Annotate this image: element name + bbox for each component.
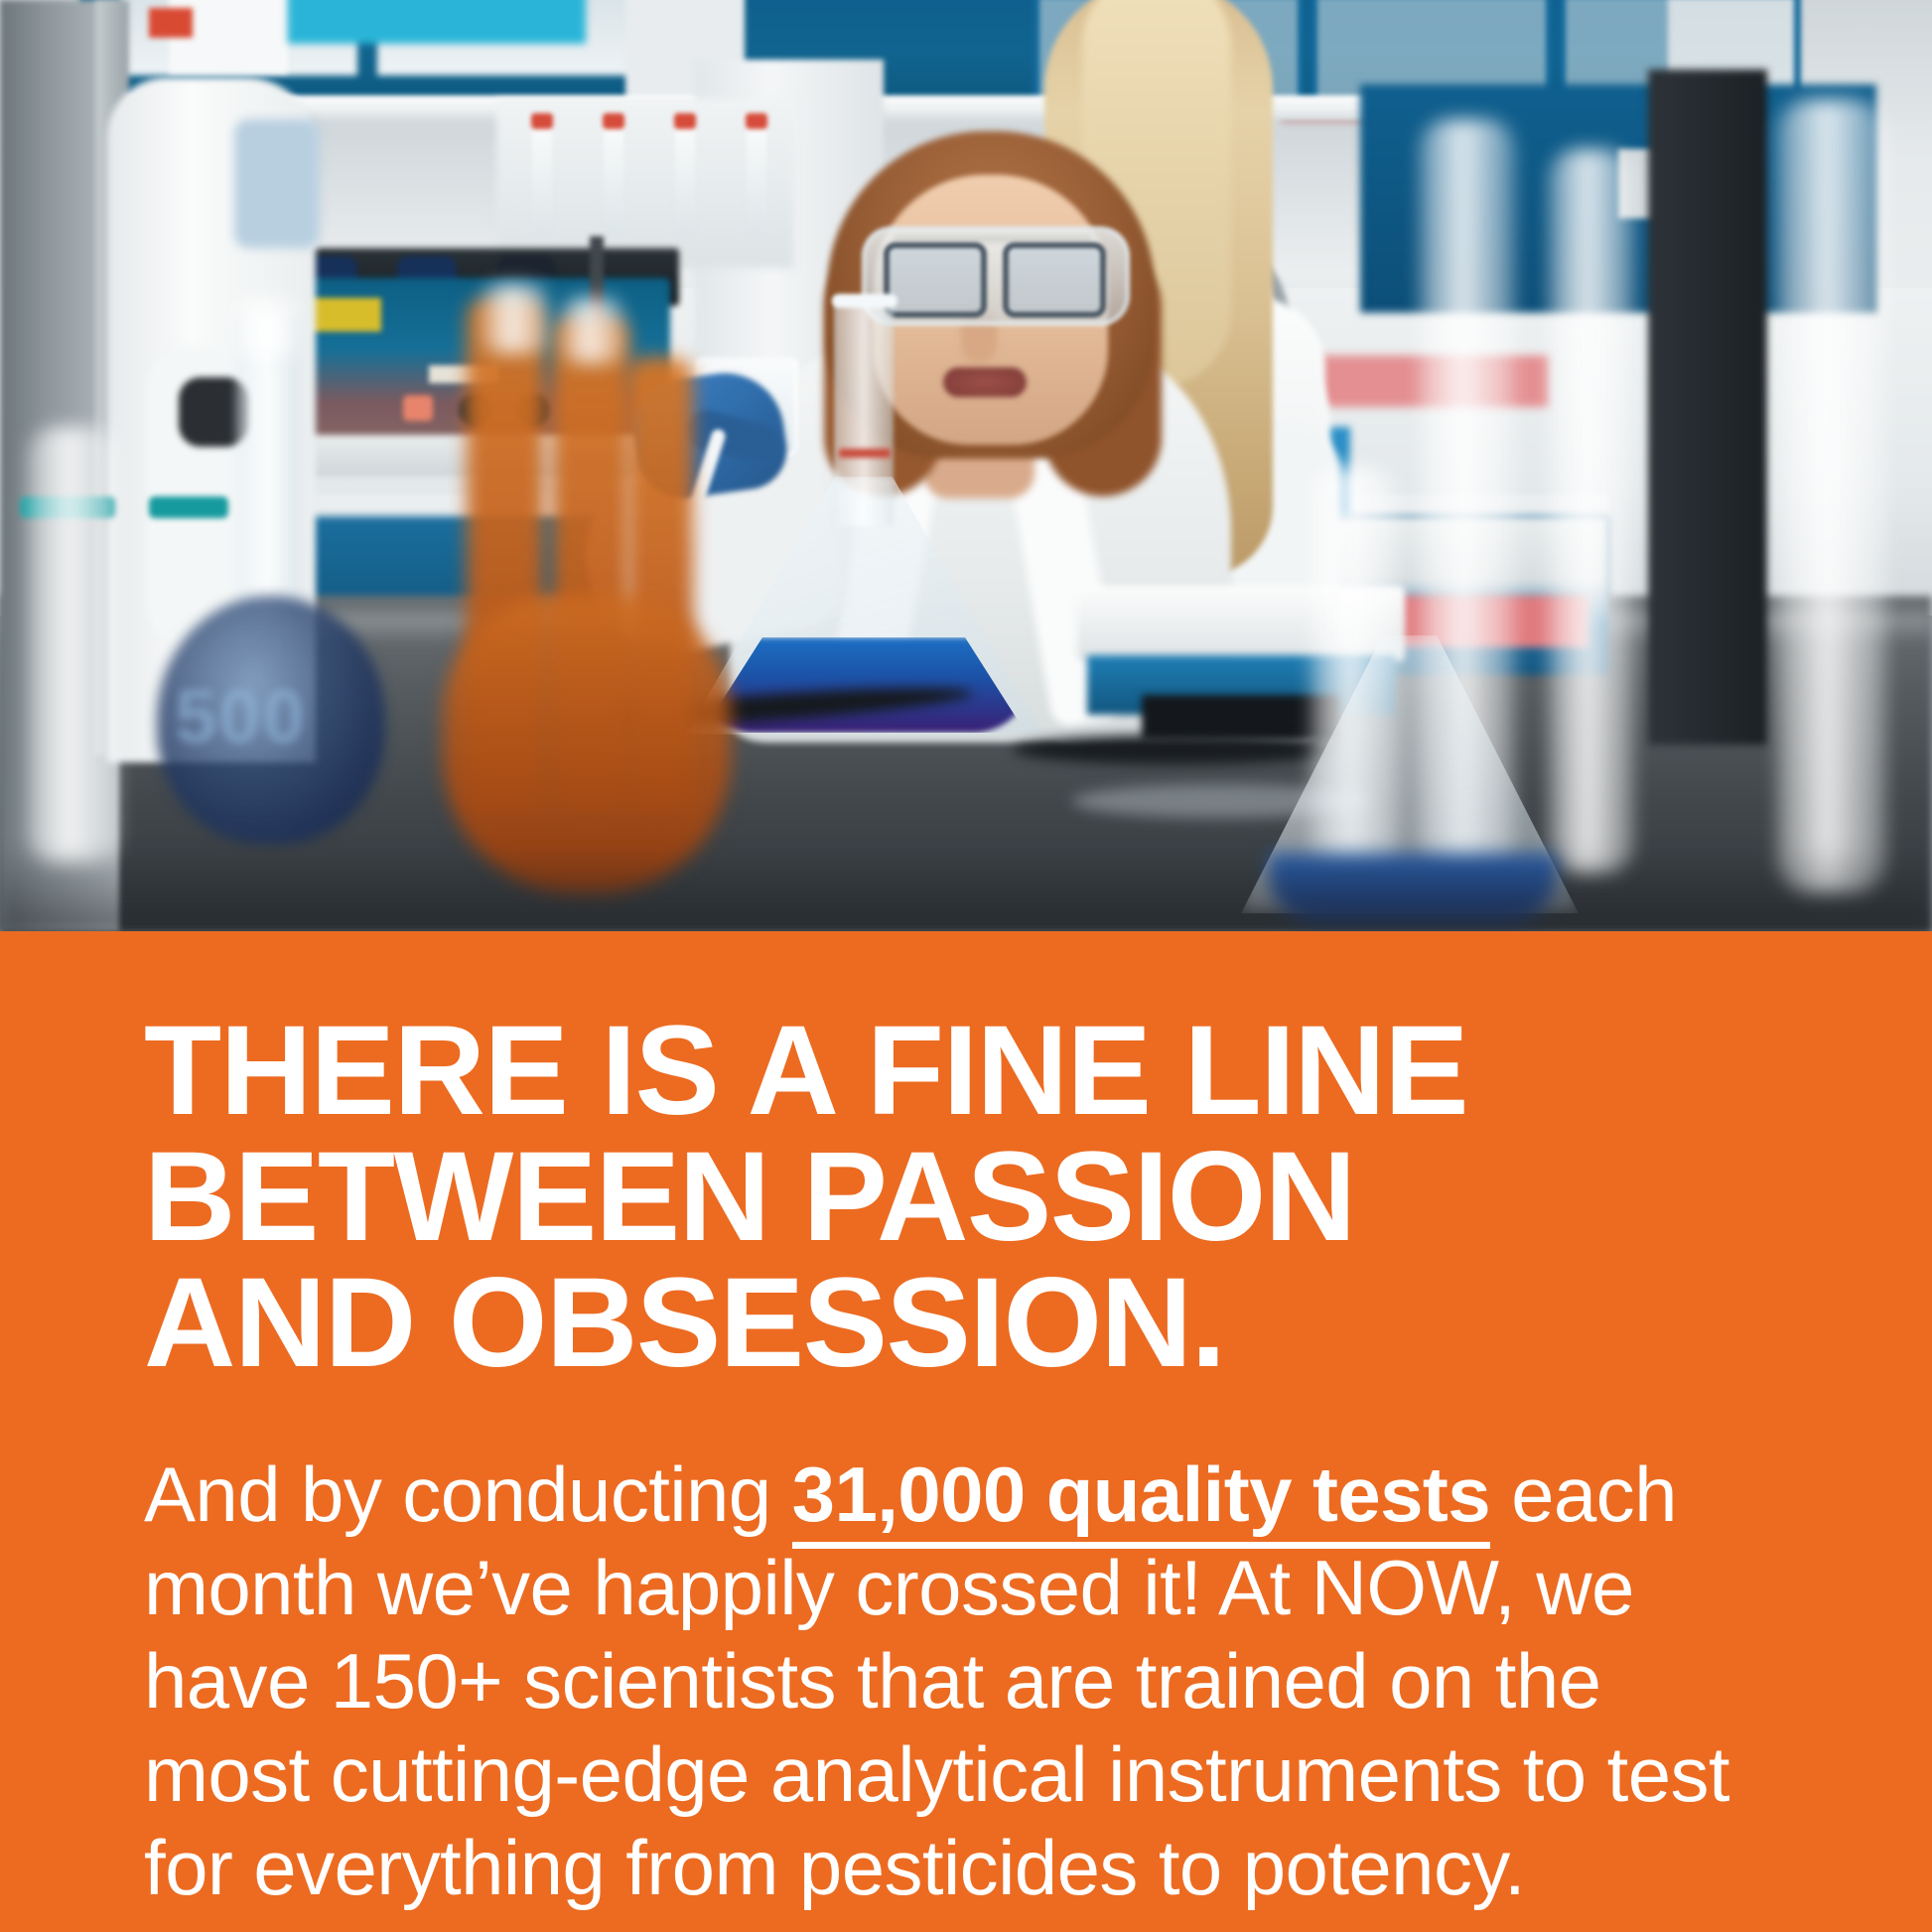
quality-tests-highlight: 31,000 quality tests	[792, 1450, 1490, 1549]
test-tube	[604, 119, 623, 238]
volumetric-flask-neck	[236, 318, 300, 616]
teal-label-2	[149, 496, 228, 518]
orange-text-panel: THERE IS A FINE LINE BETWEEN PASSION AND…	[0, 931, 1932, 1932]
left-blue-cloth	[234, 119, 320, 248]
photo-bottom-vignette	[0, 846, 1932, 931]
cabinet-contents-cyan	[288, 0, 586, 44]
test-tube	[747, 119, 766, 238]
tube-cap-icon	[531, 113, 553, 129]
dark-column-right	[1648, 69, 1767, 745]
volumetric-flask-volume-label: 500	[175, 675, 373, 760]
clear-glass-cylinder-left	[28, 427, 119, 864]
erlenmeyer-flask-neck	[834, 298, 894, 526]
instrument-power-led	[403, 395, 433, 421]
promo-poster: 500 THERE IS A FINE LINE BETWEEN PASSION…	[0, 0, 1932, 1932]
amber-column-cap-1	[483, 284, 548, 353]
cabinet-label-red	[149, 8, 193, 38]
body-text-before: And by conducting	[144, 1450, 792, 1538]
tube-cap-icon	[674, 113, 696, 129]
amber-column-cap-2	[562, 298, 623, 363]
clear-glass-cylinder-r4	[1777, 99, 1886, 894]
body-paragraph: And by conducting 31,000 quality tests e…	[144, 1448, 1783, 1914]
tube-cap-icon	[603, 113, 624, 129]
tube-cap-icon	[746, 113, 767, 129]
erlenmeyer-flask-label	[839, 449, 891, 458]
erlenmeyer-flask-rim	[832, 294, 897, 308]
clear-glass-cylinder-r3	[1549, 149, 1634, 874]
page-title: THERE IS A FINE LINE BETWEEN PASSION AND…	[144, 1008, 1783, 1386]
eyeglass-lens-left	[884, 242, 987, 318]
lab-photo: 500	[0, 0, 1932, 931]
bench-cable-1	[1013, 735, 1340, 764]
eyeglass-lens-right	[1003, 242, 1106, 318]
center-scientist-mouth	[943, 367, 1027, 397]
test-tube	[675, 119, 695, 238]
test-tube	[532, 119, 552, 238]
volumetric-flask-stopper	[234, 298, 300, 357]
